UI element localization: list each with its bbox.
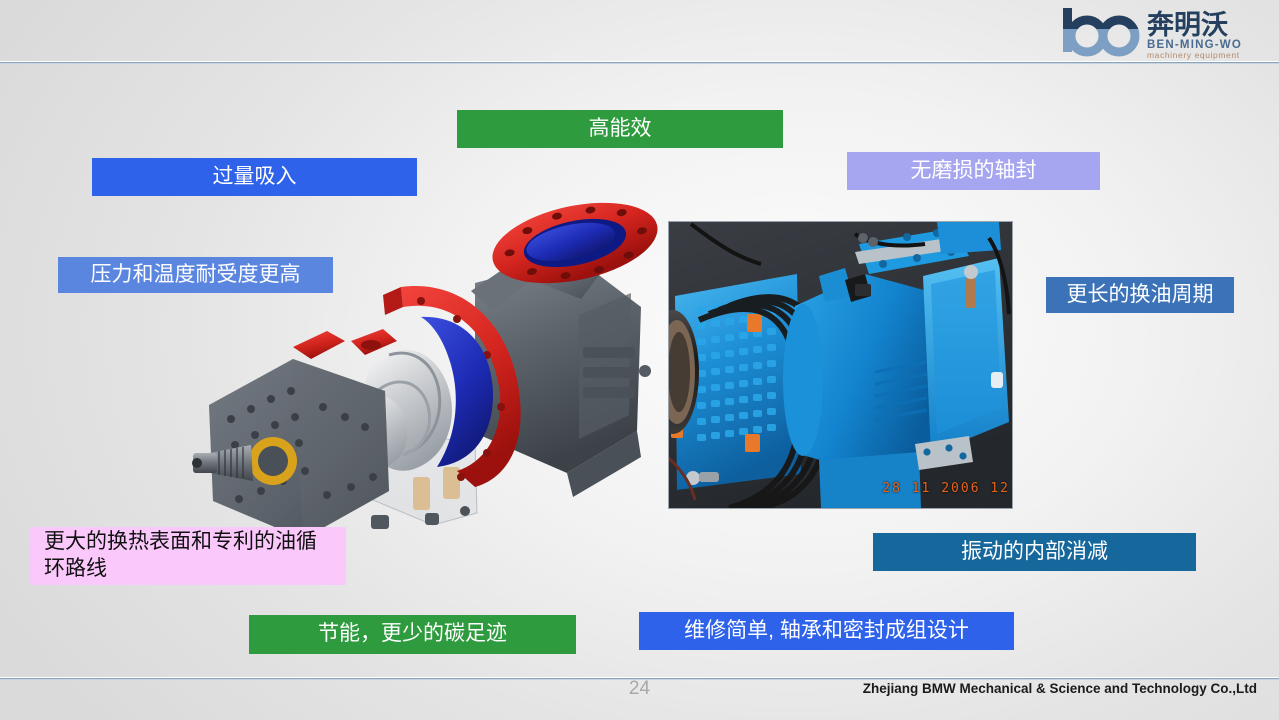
callout-wear-free-shaft-seal: 无磨损的轴封: [847, 152, 1100, 190]
company-logo: 奔明沃 BEN-MING-WO machinery equipment: [1059, 4, 1271, 60]
photo-timestamp: 28 11 2006 12: [882, 481, 1010, 496]
callout-high-efficiency: 高能效: [457, 110, 783, 148]
callout-excess-intake: 过量吸入: [92, 158, 417, 196]
slide-canvas: 奔明沃 BEN-MING-WO machinery equipment: [0, 0, 1279, 720]
compressor-photo: 28 11 2006 12: [668, 221, 1013, 509]
callout-larger-heat-surface: 更大的换热表面和专利的油循环路线: [30, 527, 346, 585]
cad-render-screw-compressor: [175, 195, 665, 550]
callout-energy-saving-carbon-footprint: 节能，更少的碳足迹: [249, 615, 576, 654]
callout-internal-vibration-reduction: 振动的内部消减: [873, 533, 1196, 571]
header-divider: [0, 61, 1279, 64]
footer-company-name: Zhejiang BMW Mechanical & Science and Te…: [863, 681, 1257, 696]
callout-easy-maintenance-bearing-seal: 维修简单, 轴承和密封成组设计: [639, 612, 1014, 650]
callout-longer-oil-change-cycle: 更长的换油周期: [1046, 277, 1234, 313]
svg-text:奔明沃: 奔明沃: [1147, 10, 1228, 41]
svg-text:machinery equipment: machinery equipment: [1147, 50, 1240, 60]
callout-higher-pressure-temperature: 压力和温度耐受度更高: [58, 257, 333, 293]
